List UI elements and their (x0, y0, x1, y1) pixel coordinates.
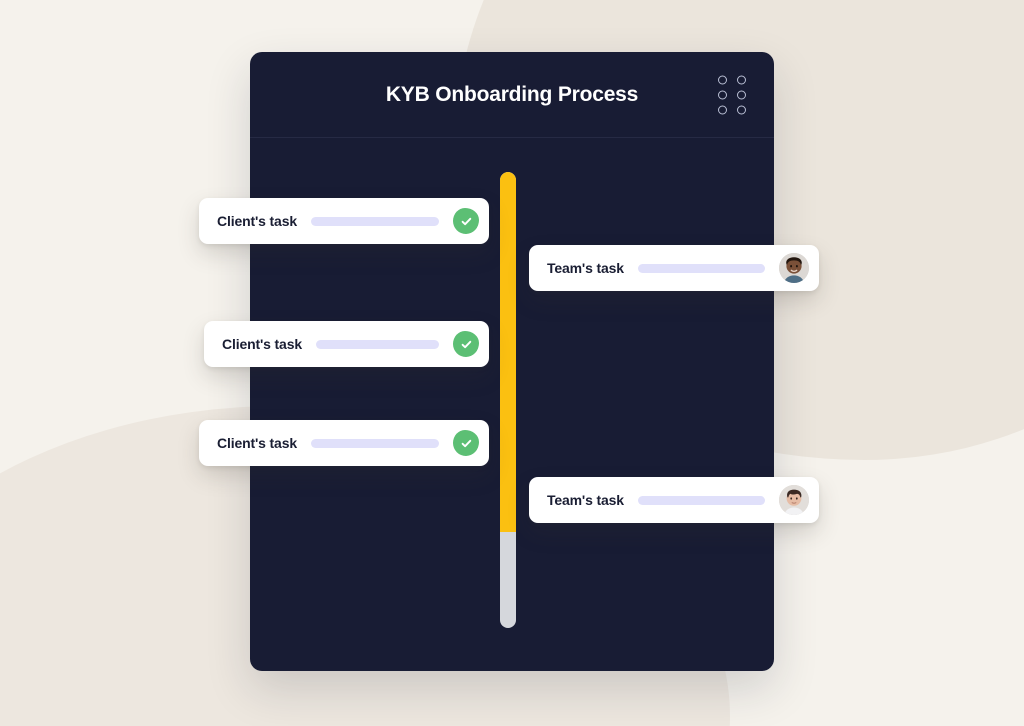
task-progress-bar (638, 496, 765, 505)
task-label: Team's task (547, 492, 624, 508)
avatar[interactable] (779, 253, 809, 283)
task-progress-bar (316, 340, 439, 349)
task-label: Client's task (217, 435, 297, 451)
check-circle-icon (453, 430, 479, 456)
avatar[interactable] (779, 485, 809, 515)
grid-dot (718, 75, 727, 84)
check-circle-icon (453, 331, 479, 357)
task-label: Team's task (547, 260, 624, 276)
task-progress-bar (311, 439, 439, 448)
grid-dot (718, 90, 727, 99)
task-progress-bar (638, 264, 765, 273)
task-card-client[interactable]: Client's task (199, 198, 489, 244)
grid-dot (737, 75, 746, 84)
task-progress-bar (311, 217, 439, 226)
timeline-progress-fill (500, 172, 516, 532)
check-circle-icon (453, 208, 479, 234)
grid-dots-icon[interactable] (718, 75, 746, 114)
task-label: Client's task (222, 336, 302, 352)
task-card-client[interactable]: Client's task (199, 420, 489, 466)
task-card-client[interactable]: Client's task (204, 321, 489, 367)
grid-dot (737, 105, 746, 114)
task-label: Client's task (217, 213, 297, 229)
panel-header: KYB Onboarding Process (250, 52, 774, 138)
task-card-team[interactable]: Team's task (529, 477, 819, 523)
page-title: KYB Onboarding Process (386, 83, 638, 107)
timeline-track[interactable] (500, 172, 516, 628)
grid-dot (718, 105, 727, 114)
task-card-team[interactable]: Team's task (529, 245, 819, 291)
grid-dot (737, 90, 746, 99)
